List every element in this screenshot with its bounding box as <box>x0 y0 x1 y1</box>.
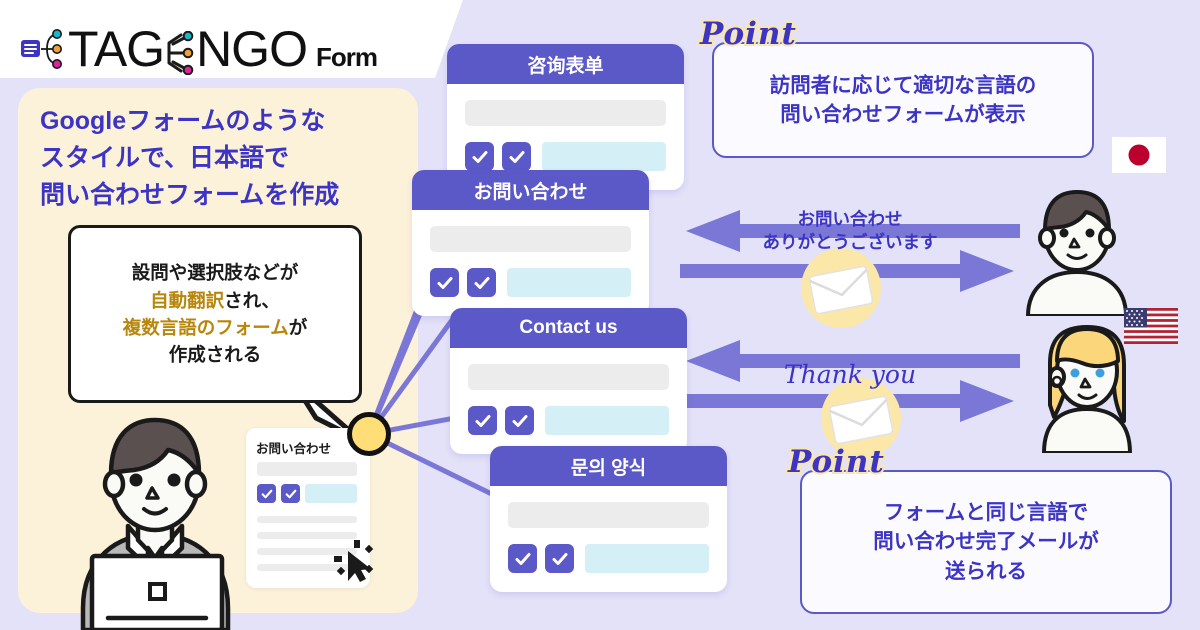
network-nodes-icon <box>20 28 66 70</box>
point-2-line-2: 問い合わせ完了メールが <box>873 527 1099 556</box>
form-checkbox-2[interactable] <box>505 406 534 435</box>
point-2-text: フォームと同じ言語で 問い合わせ完了メールが 送られる <box>873 498 1099 585</box>
person-female-avatar <box>1028 325 1146 453</box>
flag-japan-icon <box>1112 137 1166 173</box>
form-card-chinese[interactable]: 咨询表单 <box>447 44 684 190</box>
point-label-1: Point <box>700 16 797 52</box>
person-male-avatar <box>1018 188 1136 316</box>
form-text-field[interactable] <box>545 406 669 435</box>
form-text-field[interactable] <box>542 142 666 171</box>
form-text-field[interactable] <box>585 544 709 573</box>
speech-bubble: 設問や選択肢などが 自動翻訳され、 複数言語のフォームが 作成される <box>68 225 362 403</box>
form-card-japanese[interactable]: お問い合わせ <box>412 170 649 316</box>
bubble-suffix-1: され、 <box>224 290 280 311</box>
form-card-korean[interactable]: 문의 양식 <box>490 446 727 592</box>
check-icon <box>511 412 529 430</box>
form-input-bar <box>430 226 631 252</box>
form-checkbox-1[interactable] <box>465 142 494 171</box>
lead-line-1: Googleフォームのような <box>40 103 400 140</box>
form-input-bar <box>508 502 709 528</box>
click-cursor-icon <box>330 538 376 584</box>
central-hub-node <box>347 412 391 456</box>
form-card-title: Contact us <box>450 308 687 348</box>
logo-wordmark: TAG NGO Form <box>68 24 377 74</box>
flow-1-line-1: お問い合わせ <box>680 208 1020 231</box>
check-icon <box>508 148 526 166</box>
logo-product-suffix: Form <box>316 44 377 70</box>
infographic-canvas: Googleフォームのような スタイルで、日本語で 問い合わせフォームを作成 設… <box>0 0 1200 630</box>
bubble-highlight-2: 複数言語のフォーム <box>123 317 289 338</box>
lead-line-2: スタイルで、日本語で <box>40 140 400 177</box>
brand-logo[interactable]: TAG NGO Form <box>20 20 377 78</box>
mail-envelope-icon <box>798 245 884 331</box>
logo-e-network-icon <box>163 31 197 75</box>
bubble-line-4: 作成される <box>169 341 262 368</box>
form-card-title: お問い合わせ <box>412 170 649 210</box>
form-checkbox-1[interactable] <box>430 268 459 297</box>
check-icon <box>474 412 492 430</box>
check-icon <box>473 274 491 292</box>
bubble-line-2: 自動翻訳され、 <box>150 287 280 314</box>
point-label-2: Point <box>788 444 885 480</box>
form-input-bar <box>465 100 666 126</box>
form-checkbox-2[interactable] <box>467 268 496 297</box>
form-text-field[interactable] <box>507 268 631 297</box>
point-1-line-2: 問い合わせフォームが表示 <box>770 100 1037 129</box>
form-card-body <box>450 348 687 454</box>
check-icon <box>436 274 454 292</box>
flow-caption-2: Thank you <box>680 358 1020 391</box>
point-box-1: 訪問者に応じて適切な言語の 問い合わせフォームが表示 <box>712 42 1094 158</box>
bubble-line-3: 複数言語のフォームが <box>123 314 307 341</box>
check-icon <box>471 148 489 166</box>
check-icon <box>514 550 532 568</box>
point-2-line-1: フォームと同じ言語で <box>873 498 1099 527</box>
form-input-bar <box>468 364 669 390</box>
point-box-2: フォームと同じ言語で 問い合わせ完了メールが 送られる <box>800 470 1172 614</box>
speech-bubble-text: 設問や選択肢などが 自動翻訳され、 複数言語のフォームが 作成される <box>71 228 359 400</box>
check-icon <box>551 550 569 568</box>
flag-usa-icon <box>1124 308 1178 344</box>
form-card-body <box>490 486 727 592</box>
flow-2-line-1: Thank you <box>680 358 1020 391</box>
bubble-suffix-2: が <box>289 317 308 338</box>
lead-heading: Googleフォームのような スタイルで、日本語で 問い合わせフォームを作成 <box>40 103 400 214</box>
form-checkbox-1[interactable] <box>468 406 497 435</box>
form-card-english[interactable]: Contact us <box>450 308 687 454</box>
mini-doc-input-bar <box>257 462 357 476</box>
mini-doc-title: お問い合わせ <box>256 438 331 457</box>
person-with-laptop-illustration <box>48 408 263 630</box>
point-1-text: 訪問者に応じて適切な言語の 問い合わせフォームが表示 <box>770 71 1037 129</box>
mini-doc-checkbox-2[interactable] <box>281 484 300 503</box>
mini-doc-text-field[interactable] <box>305 484 357 503</box>
check-icon <box>284 487 297 500</box>
logo-text-part-1: TAG <box>68 24 164 74</box>
bubble-highlight-1: 自動翻訳 <box>150 290 224 311</box>
bubble-line-1: 設問や選択肢などが <box>132 259 299 286</box>
form-checkbox-1[interactable] <box>508 544 537 573</box>
form-card-title: 문의 양식 <box>490 446 727 486</box>
form-checkbox-2[interactable] <box>502 142 531 171</box>
flow-1-line-2: ありがとうございます <box>680 231 1020 254</box>
flow-caption-1: お問い合わせ ありがとうございます <box>680 208 1020 254</box>
form-card-body <box>412 210 649 316</box>
point-1-line-1: 訪問者に応じて適切な言語の <box>770 71 1037 100</box>
point-2-line-3: 送られる <box>873 557 1099 586</box>
logo-text-part-2: NGO <box>196 24 307 74</box>
form-checkbox-2[interactable] <box>545 544 574 573</box>
mini-doc-line <box>257 516 357 523</box>
lead-line-3: 問い合わせフォームを作成 <box>40 177 400 214</box>
form-card-title: 咨询表单 <box>447 44 684 84</box>
